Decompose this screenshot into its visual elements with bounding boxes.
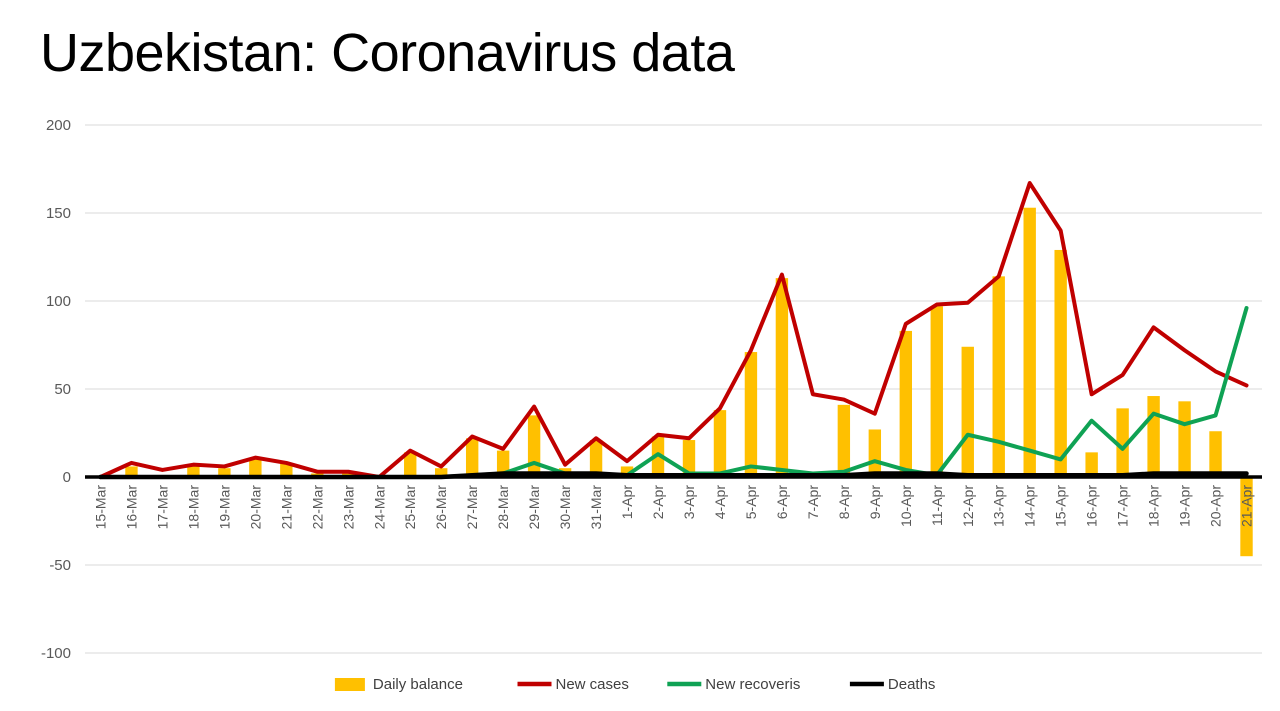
x-axis-tick-label: 4-Apr bbox=[712, 485, 728, 520]
x-axis-tick-label: 28-Mar bbox=[495, 485, 511, 530]
bar-daily-balance bbox=[1209, 431, 1221, 477]
bar-daily-balance bbox=[776, 278, 788, 477]
x-axis-tick-label: 19-Apr bbox=[1177, 485, 1193, 527]
x-axis-tick-label: 25-Mar bbox=[402, 485, 418, 530]
bar-daily-balance bbox=[1024, 208, 1036, 477]
bar-daily-balance bbox=[838, 405, 850, 477]
x-axis-tick-label: 22-Mar bbox=[309, 485, 325, 530]
x-axis-tick-label: 10-Apr bbox=[898, 485, 914, 527]
x-axis-tick-label: 30-Mar bbox=[557, 485, 573, 530]
y-axis-tick-label: 150 bbox=[46, 205, 71, 222]
y-axis-tick-label: 100 bbox=[46, 293, 71, 310]
legend-label: New cases bbox=[556, 676, 629, 693]
x-axis-tick-label: 12-Apr bbox=[960, 485, 976, 527]
x-axis-tick-label: 19-Mar bbox=[216, 485, 232, 530]
bar-daily-balance bbox=[993, 276, 1005, 477]
bar-daily-balance bbox=[466, 438, 478, 477]
x-axis-tick-label: 3-Apr bbox=[681, 485, 697, 520]
chart-plot-area: 200150100500-50-100 15-Mar16-Mar17-Mar18… bbox=[0, 0, 1280, 711]
x-axis-tick-label: 17-Mar bbox=[154, 485, 170, 530]
x-axis-tick-label: 27-Mar bbox=[464, 485, 480, 530]
x-axis-tick-label: 14-Apr bbox=[1022, 485, 1038, 527]
x-axis-tick-label: 11-Apr bbox=[929, 485, 945, 526]
x-axis-tick-label: 7-Apr bbox=[805, 485, 821, 520]
bar-daily-balance bbox=[745, 352, 757, 477]
chart-legend: Daily balanceNew casesNew recoverisDeath… bbox=[335, 676, 936, 693]
x-axis-tick-label: 15-Apr bbox=[1053, 485, 1069, 527]
x-axis-tick-label: 1-Apr bbox=[619, 485, 635, 520]
x-axis-tick-label: 15-Mar bbox=[92, 485, 108, 530]
gridlines bbox=[85, 125, 1262, 653]
x-axis-tick-label: 31-Mar bbox=[588, 485, 604, 530]
bar-daily-balance bbox=[931, 306, 943, 477]
x-axis-tick-label: 21-Mar bbox=[278, 485, 294, 530]
bar-daily-balance bbox=[528, 415, 540, 477]
bar-daily-balance bbox=[714, 410, 726, 477]
y-axis-tick-label: 200 bbox=[46, 117, 71, 134]
x-axis-tick-label: 29-Mar bbox=[526, 485, 542, 530]
y-axis-tick-label: -50 bbox=[49, 557, 71, 574]
y-axis-ticks: 200150100500-50-100 bbox=[41, 117, 71, 662]
bar-daily-balance bbox=[962, 347, 974, 477]
x-axis-tick-label: 20-Mar bbox=[247, 485, 263, 530]
line-series-new-recoveris bbox=[100, 308, 1246, 477]
legend-label: Deaths bbox=[888, 676, 936, 693]
bar-daily-balance bbox=[249, 459, 261, 477]
x-axis-tick-label: 24-Mar bbox=[371, 485, 387, 530]
line-series-group bbox=[100, 183, 1246, 477]
x-axis-tick-label: 21-Apr bbox=[1239, 485, 1255, 527]
bar-daily-balance bbox=[1178, 401, 1190, 477]
legend-swatch-bar bbox=[335, 678, 365, 691]
x-axis-ticks: 15-Mar16-Mar17-Mar18-Mar19-Mar20-Mar21-M… bbox=[92, 485, 1254, 530]
x-axis-tick-label: 20-Apr bbox=[1208, 485, 1224, 527]
y-axis-tick-label: -100 bbox=[41, 645, 71, 662]
x-axis-tick-label: 26-Mar bbox=[433, 485, 449, 530]
x-axis-tick-label: 18-Apr bbox=[1146, 485, 1162, 527]
x-axis-tick-label: 16-Mar bbox=[123, 485, 139, 530]
y-axis-tick-label: 50 bbox=[54, 381, 71, 398]
bar-daily-balance bbox=[869, 429, 881, 477]
x-axis-tick-label: 16-Apr bbox=[1084, 485, 1100, 527]
line-series-new-cases bbox=[100, 183, 1246, 477]
y-axis-tick-label: 0 bbox=[63, 469, 71, 486]
x-axis-tick-label: 13-Apr bbox=[991, 485, 1007, 527]
bar-daily-balance bbox=[1054, 250, 1066, 477]
x-axis-tick-label: 18-Mar bbox=[185, 485, 201, 530]
chart-container: Uzbekistan: Coronavirus data 20015010050… bbox=[0, 0, 1280, 711]
x-axis-tick-label: 8-Apr bbox=[836, 485, 852, 520]
x-axis-tick-label: 23-Mar bbox=[340, 485, 356, 530]
bar-daily-balance bbox=[1147, 396, 1159, 477]
x-axis-tick-label: 6-Apr bbox=[774, 485, 790, 520]
bar-daily-balance bbox=[900, 331, 912, 477]
x-axis-tick-label: 5-Apr bbox=[743, 485, 759, 520]
x-axis-tick-label: 2-Apr bbox=[650, 485, 666, 520]
legend-label: New recoveris bbox=[705, 676, 800, 693]
x-axis-tick-label: 17-Apr bbox=[1115, 485, 1131, 527]
legend-label: Daily balance bbox=[373, 676, 463, 693]
x-axis-tick-label: 9-Apr bbox=[867, 485, 883, 520]
